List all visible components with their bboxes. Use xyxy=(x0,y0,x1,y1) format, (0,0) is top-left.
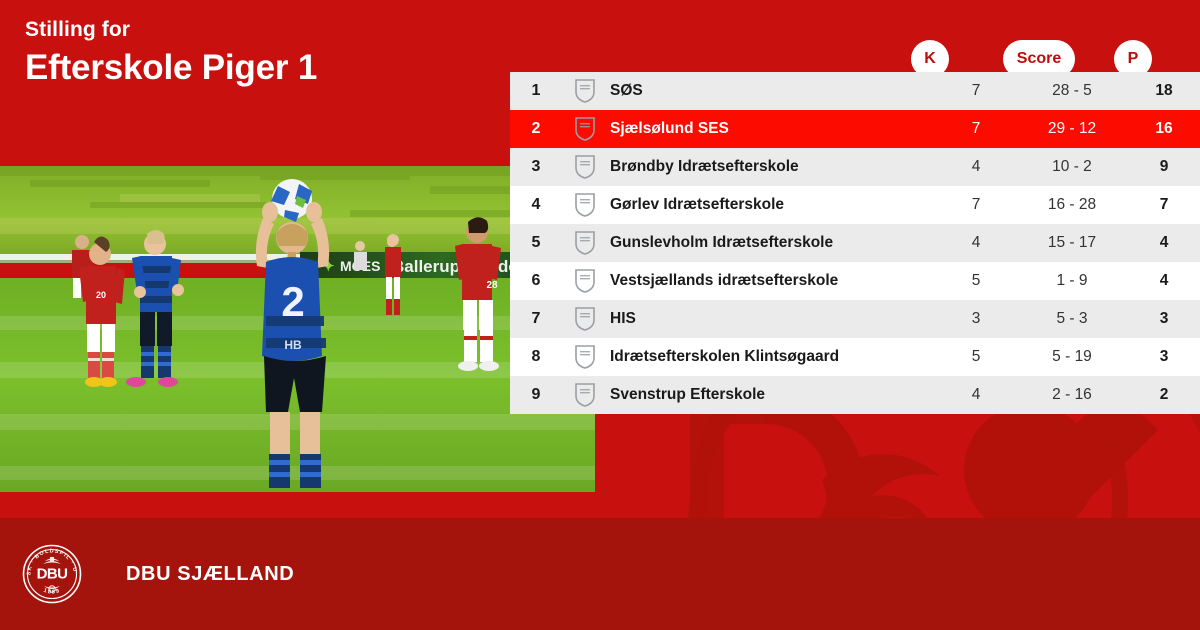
club-crest-icon xyxy=(562,344,608,370)
table-row[interactable]: 3 Brøndby Idrætsefterskole410 - 29 xyxy=(510,148,1200,186)
poster-canvas: Stilling for Efterskole Piger 1 xyxy=(0,0,1200,630)
row-points: 3 xyxy=(1128,348,1200,366)
row-rank: 6 xyxy=(510,272,562,290)
club-crest-icon xyxy=(562,154,608,180)
row-points: 4 xyxy=(1128,272,1200,290)
row-team-name: Svenstrup Efterskole xyxy=(608,386,936,404)
row-team-name: Sjælsølund SES xyxy=(608,120,936,138)
page-title: Efterskole Piger 1 xyxy=(25,48,317,88)
row-rank: 3 xyxy=(510,158,562,176)
club-crest-icon xyxy=(562,78,608,104)
row-rank: 1 xyxy=(510,82,562,100)
club-crest-icon xyxy=(562,192,608,218)
row-team-name: Vestsjællands idrætsefterskole xyxy=(608,272,936,290)
row-matches-played: 7 xyxy=(936,196,1016,214)
row-matches-played: 4 xyxy=(936,386,1016,404)
row-rank: 5 xyxy=(510,234,562,252)
club-crest-icon xyxy=(562,306,608,332)
table-row[interactable]: 2 Sjælsølund SES729 - 1216 xyxy=(510,110,1200,148)
svg-text:20: 20 xyxy=(96,290,106,300)
row-matches-played: 3 xyxy=(936,310,1016,328)
row-points: 9 xyxy=(1128,158,1200,176)
club-crest-icon xyxy=(562,116,608,142)
svg-text:2: 2 xyxy=(281,278,304,325)
svg-text:28: 28 xyxy=(486,280,498,291)
table-row[interactable]: 5 Gunslevholm Idrætsefterskole415 - 174 xyxy=(510,224,1200,262)
club-crest-icon xyxy=(562,382,608,408)
row-rank: 9 xyxy=(510,386,562,404)
row-rank: 2 xyxy=(510,120,562,138)
row-matches-played: 7 xyxy=(936,120,1016,138)
row-points: 7 xyxy=(1128,196,1200,214)
row-rank: 4 xyxy=(510,196,562,214)
row-points: 2 xyxy=(1128,386,1200,404)
row-goal-score: 28 - 5 xyxy=(1016,82,1128,100)
row-goal-score: 10 - 2 xyxy=(1016,158,1128,176)
row-rank: 7 xyxy=(510,310,562,328)
row-goal-score: 15 - 17 xyxy=(1016,234,1128,252)
row-goal-score: 5 - 19 xyxy=(1016,348,1128,366)
row-goal-score: 1 - 9 xyxy=(1016,272,1128,290)
row-points: 3 xyxy=(1128,310,1200,328)
table-row[interactable]: 4 Gørlev Idrætsefterskole716 - 287 xyxy=(510,186,1200,224)
standings-table: 1 SØS728 - 5182 Sjælsølund SES729 - 1216… xyxy=(510,72,1200,414)
row-matches-played: 7 xyxy=(936,82,1016,100)
match-photo: ✦ MCES Ballerup det xyxy=(0,166,595,492)
row-matches-played: 4 xyxy=(936,234,1016,252)
row-team-name: Idrætsefterskolen Klintsøgaard xyxy=(608,348,936,366)
row-team-name: SØS xyxy=(608,82,936,100)
row-goal-score: 2 - 16 xyxy=(1016,386,1128,404)
footer-content: DANSK · BOLDSPIL · UNION1889DBUDBU SJÆLL… xyxy=(0,518,1200,630)
club-crest-icon xyxy=(562,268,608,294)
table-row[interactable]: 7 HIS35 - 33 xyxy=(510,300,1200,338)
row-goal-score: 29 - 12 xyxy=(1016,120,1128,138)
table-row[interactable]: 6 Vestsjællands idrætsefterskole51 - 94 xyxy=(510,262,1200,300)
club-crest-icon xyxy=(562,230,608,256)
row-points: 16 xyxy=(1128,120,1200,138)
dbu-logo-icon: DANSK · BOLDSPIL · UNION1889DBU xyxy=(22,544,82,604)
svg-text:HB: HB xyxy=(284,338,302,352)
row-team-name: HIS xyxy=(608,310,936,328)
poster-heading-block: Stilling for Efterskole Piger 1 xyxy=(25,18,317,88)
row-points: 4 xyxy=(1128,234,1200,252)
table-row[interactable]: 1 SØS728 - 518 xyxy=(510,72,1200,110)
row-team-name: Gørlev Idrætsefterskole xyxy=(608,196,936,214)
row-matches-played: 4 xyxy=(936,158,1016,176)
row-matches-played: 5 xyxy=(936,348,1016,366)
table-row[interactable]: 8 Idrætsefterskolen Klintsøgaard55 - 193 xyxy=(510,338,1200,376)
table-row[interactable]: 9 Svenstrup Efterskole42 - 162 xyxy=(510,376,1200,414)
footer-org-name: DBU SJÆLLAND xyxy=(126,563,294,586)
svg-text:Ballerup: Ballerup xyxy=(392,257,460,276)
row-rank: 8 xyxy=(510,348,562,366)
kicker-label: Stilling for xyxy=(25,18,317,42)
row-matches-played: 5 xyxy=(936,272,1016,290)
row-team-name: Brøndby Idrætsefterskole xyxy=(608,158,936,176)
svg-text:DBU: DBU xyxy=(37,566,68,583)
row-goal-score: 16 - 28 xyxy=(1016,196,1128,214)
row-points: 18 xyxy=(1128,82,1200,100)
row-goal-score: 5 - 3 xyxy=(1016,310,1128,328)
row-team-name: Gunslevholm Idrætsefterskole xyxy=(608,234,936,252)
